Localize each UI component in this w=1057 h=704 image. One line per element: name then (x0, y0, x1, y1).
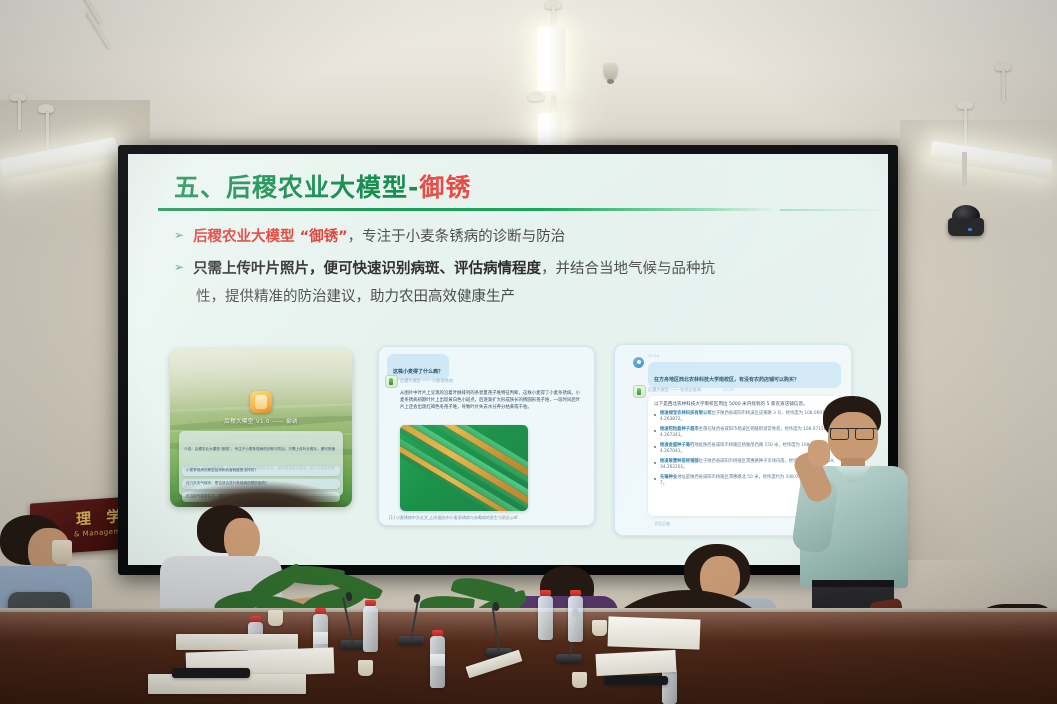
sprinkler-head (607, 79, 614, 84)
store-name: 杨凌绿宝农林科技有限公司 (660, 411, 712, 416)
pendant-rod-4 (46, 112, 49, 150)
bottle-label (313, 632, 328, 644)
water-bottle-3 (363, 606, 378, 652)
pendant-rod-2 (552, 96, 555, 114)
presenter-glasses-lens-r (855, 428, 874, 440)
audience-head-silhouette (170, 481, 352, 507)
diagnosis-citation: [1] 小麦锈病中文论文_山东烟台市小麦条锈病与赤霉病的发生与防治.pdf (389, 515, 518, 521)
slide-title-main: 五、后稷农业大模型- (174, 173, 419, 202)
bottle-cap (315, 608, 326, 614)
bottle-cap-2 (250, 616, 261, 622)
bot-avatar-icon-2 (633, 385, 646, 398)
paper-cup-3 (572, 672, 587, 688)
paper-cup (358, 660, 373, 676)
user-avatar-icon (633, 357, 644, 368)
document-sheet-3 (595, 650, 676, 676)
store-question-bubble: 在方舟地区西北农林科技大学南校区，有没有农药店铺可以购买？ (648, 362, 841, 388)
slide-title-accent: 御锈 (419, 173, 471, 202)
bottle-label-4 (430, 654, 445, 666)
bottle-cap-3 (365, 600, 376, 606)
store-question-text: 在方舟地区西北农林科技大学南校区，有没有农药店铺可以购买？ (654, 377, 799, 383)
wheat-rust-leaf-photo (400, 425, 528, 511)
presenter-hand (808, 440, 830, 466)
pendant-rod-5 (1002, 70, 1005, 102)
bottle-cap-5 (570, 590, 581, 596)
conference-room-photo: 理 学 院 & Management 五、后稷农业大模型-御锈 ➢ 后稷农业大模… (0, 0, 1057, 704)
document-sheet-2 (608, 616, 701, 649)
store-name: 杨凌联营种苗经销部 (660, 459, 699, 464)
diagnosis-answer-text: 从图片中叶片上呈现的沿着叶脉排列的条状夏孢子堆特征判断，这株小麦得了小麦条锈病。… (400, 390, 583, 412)
ceiling (0, 0, 1057, 152)
ceiling-light-fixture (537, 27, 565, 91)
store-bot-name: 后稷大模型 —— 农资店查询 (648, 387, 701, 393)
presentation-slide: 五、后稷农业大模型-御锈 ➢ 后稷农业大模型 “御锈”，专注于小麦条锈病的诊断与… (128, 154, 888, 565)
paper-cup-4 (592, 620, 607, 636)
water-bottle-7 (662, 668, 677, 704)
bottle-cap-6 (540, 590, 551, 596)
camera-mount (962, 152, 967, 186)
app-suggestion-1[interactable]: 小麦条锈病的典型症状和危害程度是怎样的？ (182, 466, 340, 476)
slide-title: 五、后稷农业大模型-御锈 (174, 168, 471, 204)
store-answer-lead: 以下是西北农林科技大学南校区周边 5000 米内找到的 5 家农资店铺信息。 (654, 401, 835, 408)
slide-bullet-1: ➢ 后稷农业大模型 “御锈”，专注于小麦条锈病的诊断与防治 (174, 226, 565, 248)
smartphone-2 (604, 676, 668, 685)
slide-panel-app-splash: 后稷大模型 V1.0 —— 御锈 介绍：后稷农业大模型“御锈”，专注于小麦条锈病… (170, 349, 352, 507)
bullet-arrow-icon: ➢ (174, 226, 184, 244)
bullet-arrow-icon-2: ➢ (174, 258, 184, 276)
camera-status-led (968, 228, 972, 231)
store-list-item: 杨凌陀粒盈种子超市坐落在陕西省咸阳市杨凌区杨陵街道常青苑，经纬度为 108.07… (654, 427, 835, 440)
presenter-belt (812, 580, 894, 587)
store-name: 杨凌金盛种子商行 (660, 443, 694, 448)
pendant-rod (552, 6, 555, 28)
diagnosis-bot-name: 后稷大模型 —— 小麦条锈病 (400, 378, 453, 384)
ptz-camera (948, 218, 984, 236)
title-underline (158, 208, 778, 211)
water-bottle-6 (538, 596, 553, 640)
pendant-mount-2 (528, 92, 544, 101)
diagnosis-question-text: 这株小麦得了什么病？ (393, 369, 443, 375)
water-bottle-5 (568, 596, 583, 642)
paper-cup-2 (268, 610, 283, 626)
bullet-2-text: 只需上传叶片照片，便可快速识别病斑、评估病情程度，并结合当地气候与品种抗 (193, 258, 715, 280)
store-name: 先锋种业 (660, 475, 677, 480)
notebook (176, 634, 298, 650)
ceiling-sprinkler (604, 63, 617, 80)
bot-avatar-icon (385, 375, 398, 388)
app-title: 后稷大模型 V1.0 —— 御锈 (170, 417, 352, 425)
smartphone (172, 668, 250, 678)
slide-bullet-2: ➢ 只需上传叶片照片，便可快速识别病斑、评估病情程度，并结合当地气候与品种抗 (174, 258, 715, 280)
audience-cup-raised (52, 540, 72, 564)
app-logo-icon (250, 391, 272, 413)
store-answer-timestamp: 22:25 (723, 387, 734, 392)
slide-panel-diagnosis: 这株小麦得了什么病？ 后稷大模型 —— 小麦条锈病 从图片中叶片上呈现的沿着叶脉… (378, 346, 595, 526)
title-underline-tail (780, 209, 888, 211)
bottle-cap-4 (432, 630, 443, 636)
store-answer-footer: 稍后回复 (655, 521, 670, 527)
table-reflection (0, 612, 1057, 642)
display-screen: 五、后稷农业大模型-御锈 ➢ 后稷农业大模型 “御锈”，专注于小麦条锈病的诊断与… (128, 154, 888, 565)
store-list-item: 杨凌绿宝农林科技有限公司位于陕西省咸阳市杨凌区成果路 3 号，经纬度为 108.… (654, 411, 835, 424)
store-name: 杨凌陀粒盈种子超市 (660, 427, 699, 432)
bullet-1-text: 后稷农业大模型 “御锈”，专注于小麦条锈病的诊断与防治 (193, 226, 565, 248)
microphone-capsule-3 (492, 602, 499, 612)
store-query-timestamp: 22:24 (648, 353, 659, 358)
app-suggestion-1-label: 小麦条锈病的典型症状和危害程度是怎样的？ (186, 468, 258, 473)
pendant-rod-3 (18, 100, 21, 130)
bullet-2-text-line2: 性，提供精准的防治建议，助力农田高效健康生产 (196, 286, 515, 308)
presenter-glasses-lens-l (830, 428, 849, 440)
